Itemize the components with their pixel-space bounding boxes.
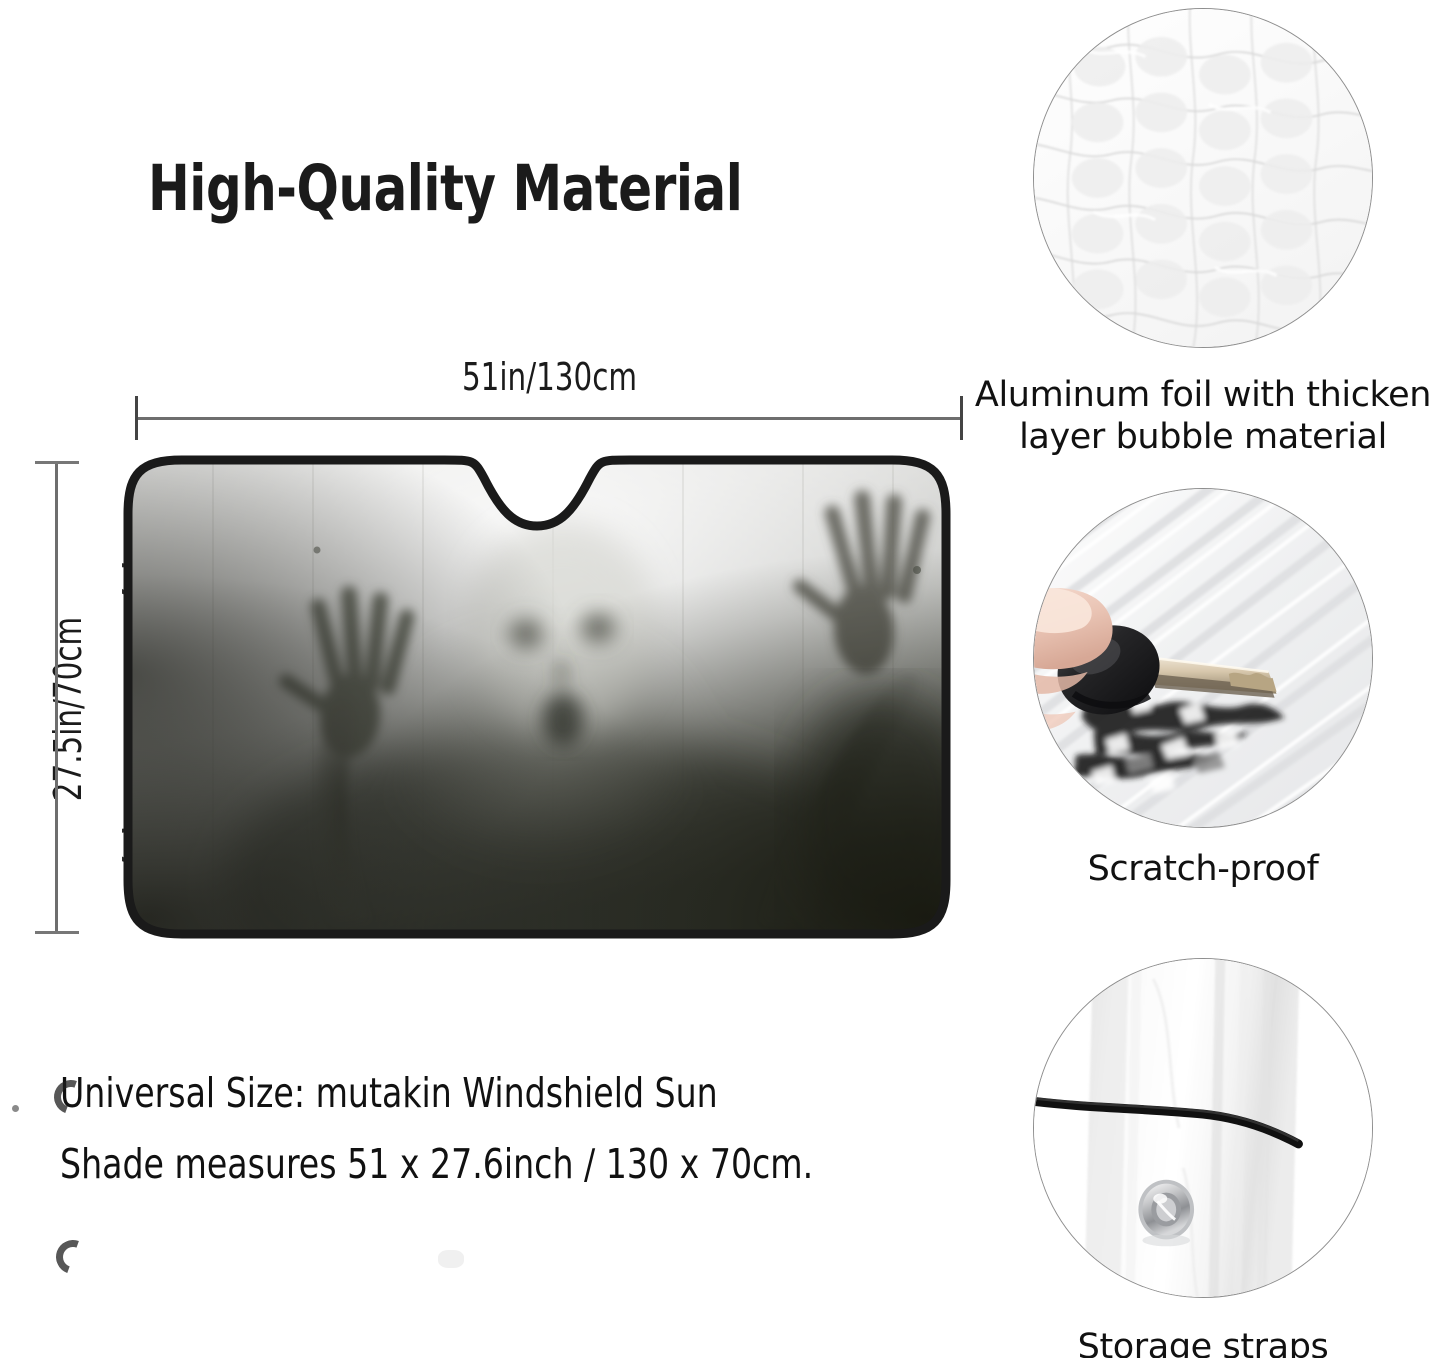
feature-material-caption-line-1: Aluminum foil with thicken xyxy=(973,374,1433,416)
key-scratch-icon xyxy=(1033,488,1373,828)
feature-material-caption-line-2: layer bubble material xyxy=(973,416,1433,458)
height-dimension-cap-bottom xyxy=(35,931,79,934)
height-dimension-cap-top xyxy=(35,461,79,464)
feature-material: Aluminum foil with thicken layer bubble … xyxy=(1033,8,1373,348)
feature-straps: Storage straps xyxy=(1033,958,1373,1358)
feature-scratch: Scratch-proof xyxy=(1033,488,1373,890)
watermark-arc xyxy=(50,1234,95,1279)
product-description: Universal Size: mutakin Windshield Sun S… xyxy=(60,1058,942,1199)
description-line-2: Shade measures 51 x 27.6inch / 130 x 70c… xyxy=(60,1129,942,1200)
watermark-speck xyxy=(438,1250,464,1268)
feature-scratch-caption: Scratch-proof xyxy=(1033,848,1373,890)
description-line-1: Universal Size: mutakin Windshield Sun xyxy=(60,1058,942,1129)
storage-strap-icon xyxy=(1033,958,1373,1298)
feature-straps-caption: Storage straps xyxy=(1033,1326,1373,1358)
product-infographic: High-Quality Material 51in/130cm 27.5in/… xyxy=(0,0,1441,1358)
height-dimension-line xyxy=(55,462,58,932)
width-dimension-label: 51in/130cm xyxy=(194,355,905,399)
height-dimension-label: 27.5in/70cm xyxy=(46,507,90,911)
page-title: High-Quality Material xyxy=(148,152,742,225)
watermark-speck xyxy=(12,1105,19,1112)
product-sunshade-image xyxy=(122,452,952,942)
bubble-foil-icon xyxy=(1033,8,1373,348)
width-dimension-cap-right xyxy=(960,396,963,440)
feature-material-caption: Aluminum foil with thicken layer bubble … xyxy=(973,374,1433,458)
width-dimension-cap-left xyxy=(135,396,138,440)
width-dimension-line xyxy=(136,417,963,420)
